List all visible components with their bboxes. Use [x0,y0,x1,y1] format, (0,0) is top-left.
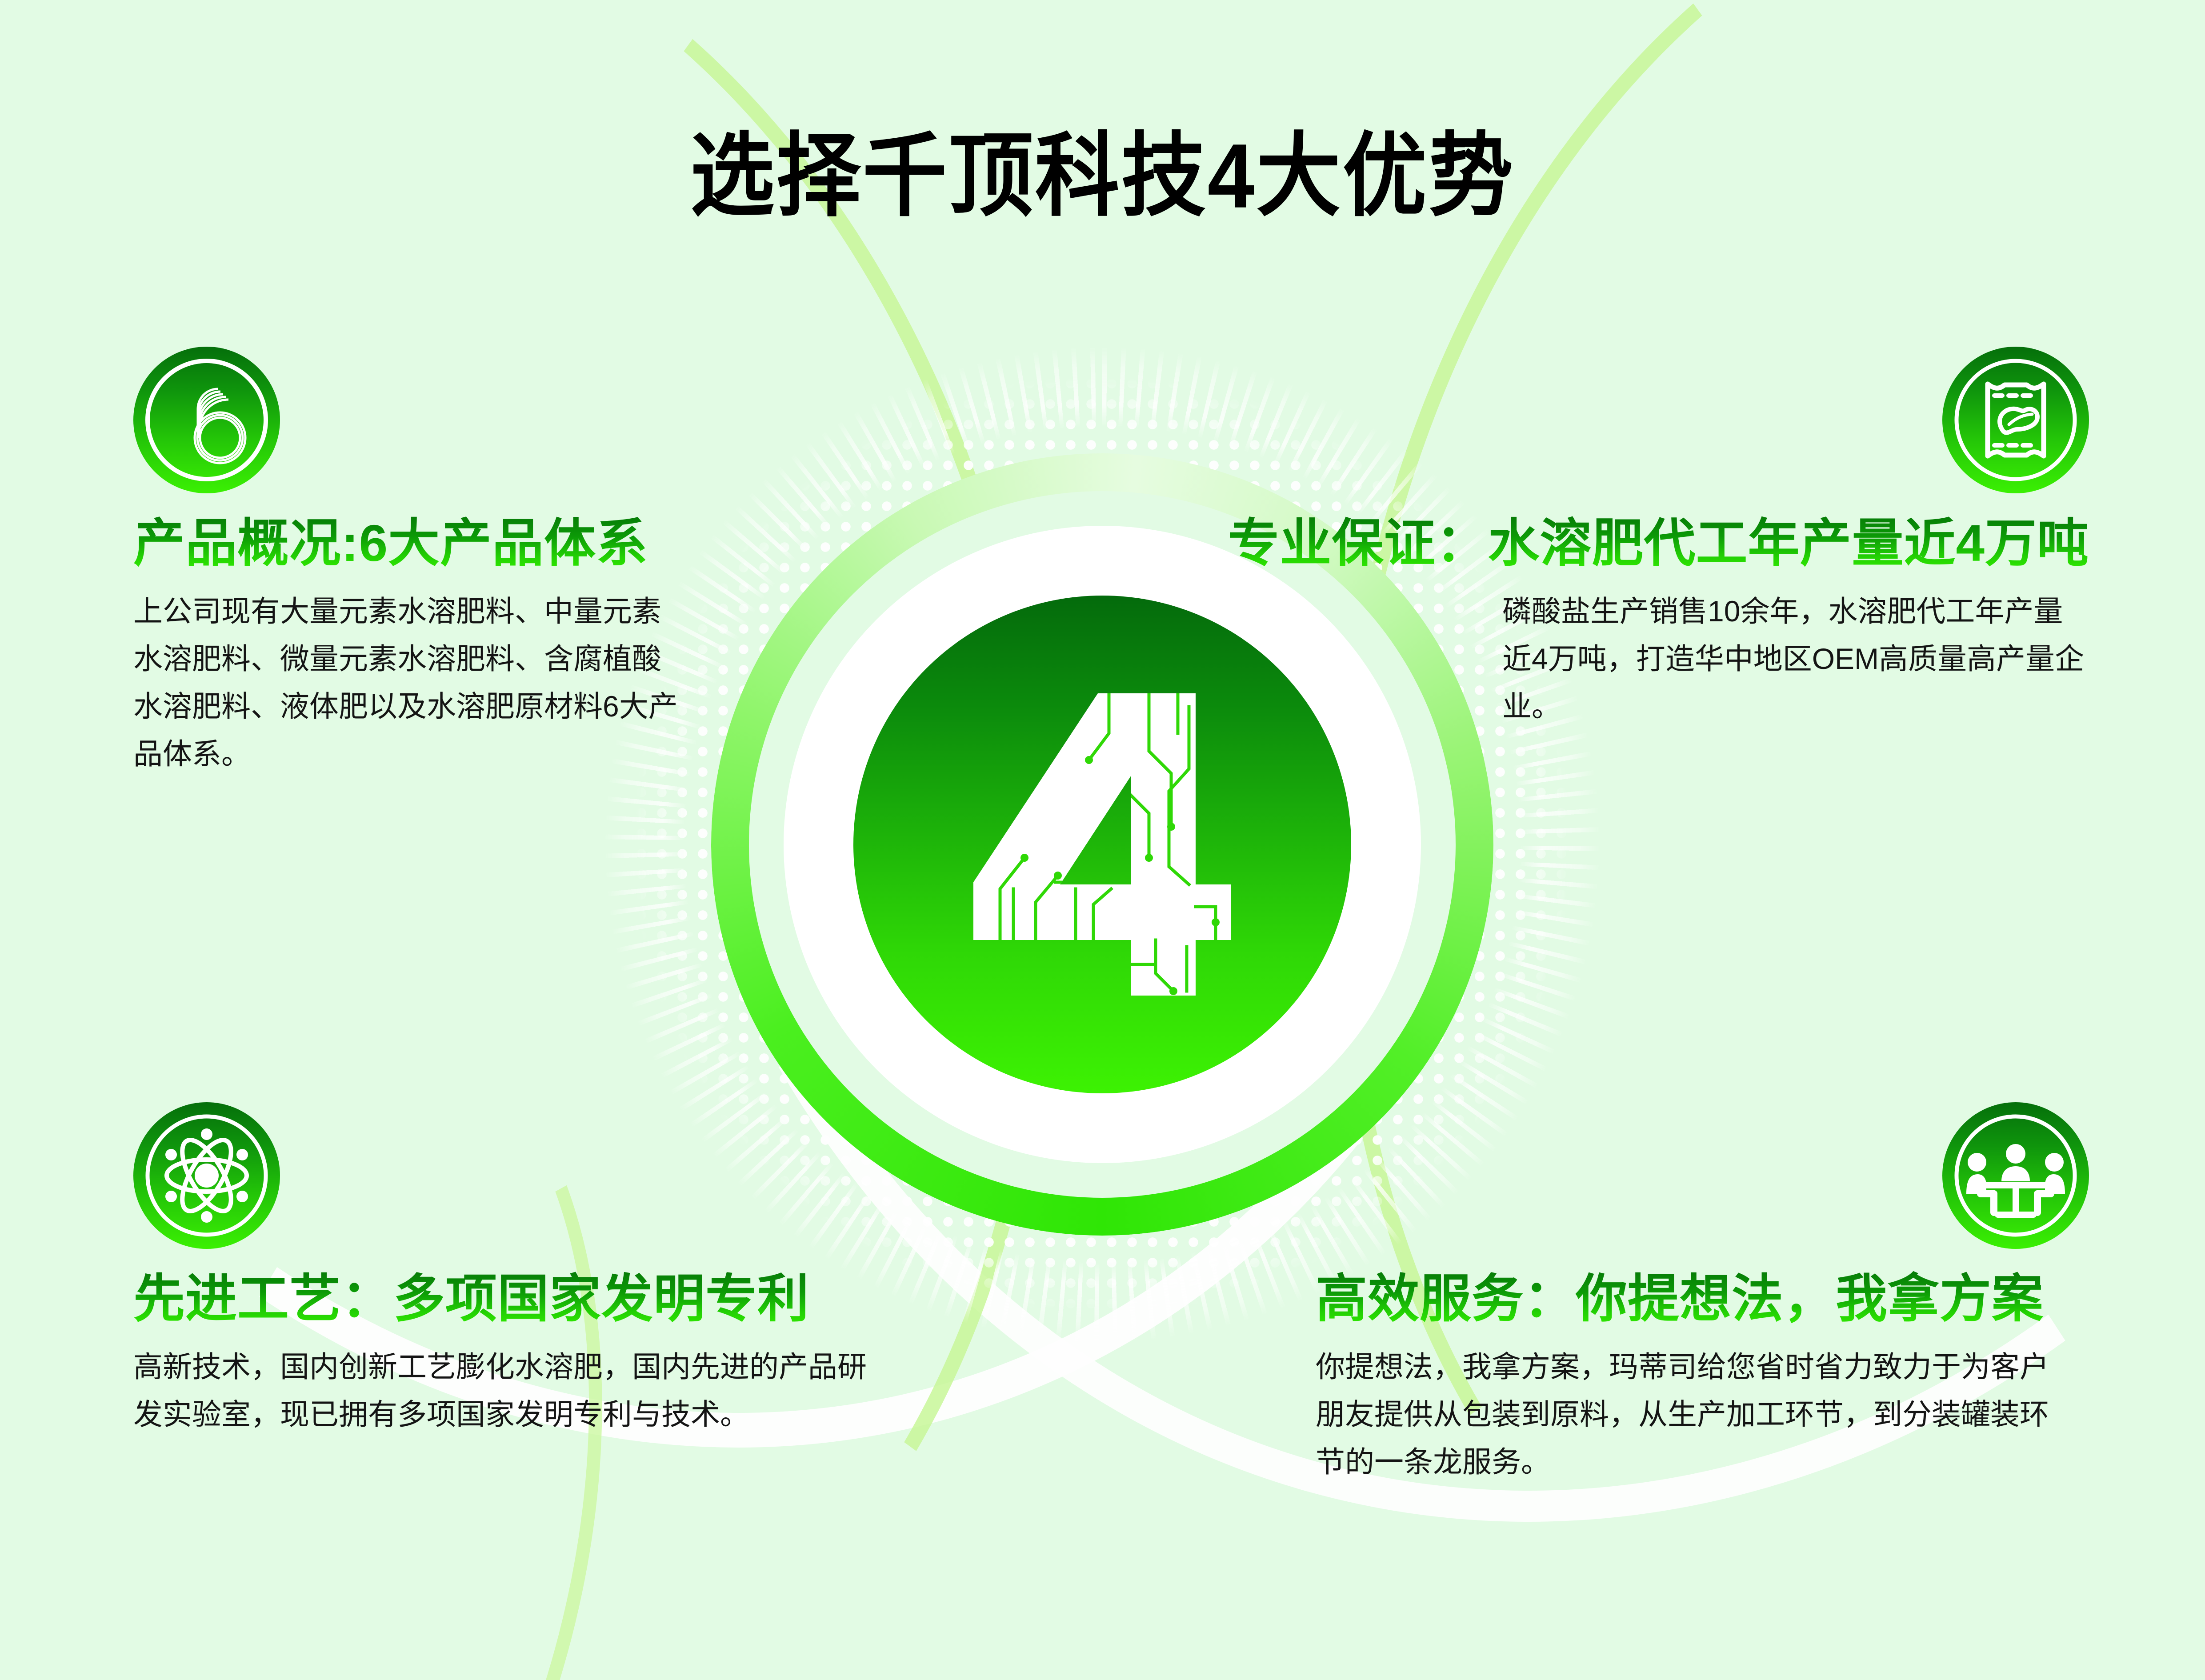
quadrant-professional-guarantee: 专业保证：水溶肥代工年产量近4万吨 磷酸盐生产销售10余年，水溶肥代工年产量近4… [1200,347,2089,730]
atom-icon [133,1102,280,1249]
quadrant-heading: 先进工艺：多项国家发明专利 [133,1270,916,1328]
quadrant-body-text: 磷酸盐生产销售10余年，水溶肥代工年产量近4万吨，打造华中地区OEM高质量高产量… [1502,588,2089,730]
quadrant-body-text: 高新技术，国内创新工艺膨化水溶肥，国内先进的产品研发实验室，现已拥有多项国家发明… [133,1343,889,1438]
meeting-people-icon [1942,1102,2089,1249]
fertilizer-bag-icon [1942,347,2089,493]
quadrant-heading: 产品概况:6大产品体系 [133,515,693,572]
number-six-circle-icon [133,347,280,493]
quadrant-product-overview: 产品概况:6大产品体系 上公司现有大量元素水溶肥料、中量元素水溶肥料、微量元素水… [133,347,693,778]
page-title: 选择千顶科技4大优势 [0,102,2205,234]
quadrant-body-text: 上公司现有大量元素水溶肥料、中量元素水溶肥料、微量元素水溶肥料、含腐植酸水溶肥料… [133,588,684,778]
quadrant-body-text: 你提想法，我拿方案，玛蒂司给您省时省力致力于为客户朋友提供从包装到原料，从生产加… [1316,1343,2067,1486]
quadrant-advanced-process: 先进工艺：多项国家发明专利 高新技术，国内创新工艺膨化水溶肥，国内先进的产品研发… [133,1102,916,1438]
four-glyph [973,693,1231,996]
quadrant-efficient-service: 高效服务：你提想法，我拿方案 你提想法，我拿方案，玛蒂司给您省时省力致力于为客户… [1316,1102,2089,1486]
quadrant-heading: 高效服务：你提想法，我拿方案 [1316,1270,2089,1328]
quadrant-heading: 专业保证：水溶肥代工年产量近4万吨 [1200,515,2089,572]
